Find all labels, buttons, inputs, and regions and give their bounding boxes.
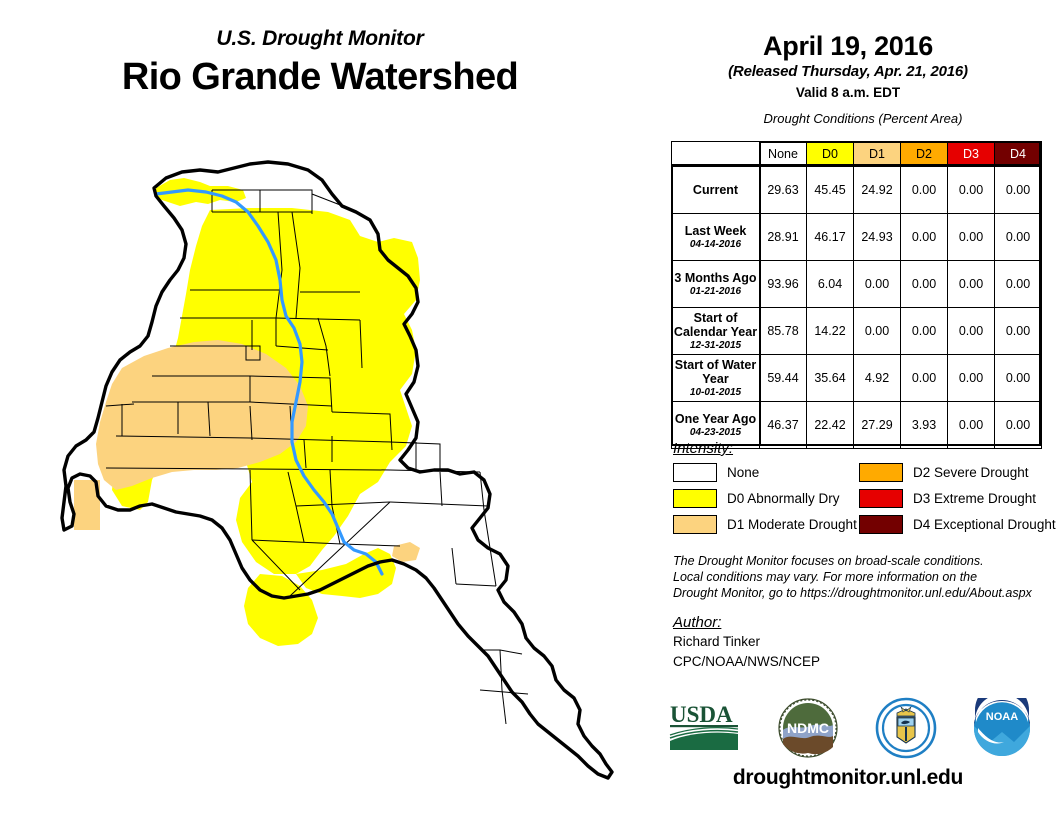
- legend-label-d1: D1 Moderate Drought: [727, 517, 857, 532]
- usdc-logo-icon[interactable]: [875, 697, 937, 759]
- row-label-current: Current: [672, 167, 760, 214]
- cell-d3: 0.00: [948, 214, 995, 261]
- legend-item-d0[interactable]: D0 Abnormally Dry: [673, 489, 859, 508]
- swatch-d1-icon: [673, 515, 717, 534]
- table-row: Start of Water Year 10-01-2015 59.44 35.…: [672, 355, 1042, 402]
- cell-none: 28.91: [760, 214, 807, 261]
- cell-d1: 4.92: [854, 355, 901, 402]
- report-date: April 19, 2016: [640, 30, 1056, 62]
- usda-logo-icon[interactable]: USDA: [668, 700, 742, 756]
- cell-d2: 0.00: [901, 167, 948, 214]
- swatch-d4-icon: [859, 515, 903, 534]
- cell-d4: 0.00: [995, 214, 1042, 261]
- cell-d1: 0.00: [854, 308, 901, 355]
- disclaimer-text: The Drought Monitor focuses on broad-sca…: [673, 553, 1053, 601]
- header-blank-cell: [672, 142, 760, 167]
- logo-row: USDA NDMC: [650, 692, 1050, 764]
- cell-d1: 24.92: [854, 167, 901, 214]
- cell-d3: 0.00: [948, 308, 995, 355]
- cell-d0: 35.64: [807, 355, 854, 402]
- page-title: Rio Grande Watershed: [0, 54, 640, 100]
- disclaimer-line-2: Local conditions may vary. For more info…: [673, 569, 1053, 585]
- row-label-start-of-calendar-year: Start of Calendar Year 12-31-2015: [672, 308, 760, 355]
- row-label-3-months-ago: 3 Months Ago 01-21-2016: [672, 261, 760, 308]
- legend-item-none[interactable]: None: [673, 463, 859, 482]
- row-label-date: 01-21-2016: [672, 286, 759, 298]
- program-title: U.S. Drought Monitor: [0, 26, 640, 52]
- cell-d4: 0.00: [995, 308, 1042, 355]
- legend-label-d4: D4 Exceptional Drought: [913, 517, 1056, 532]
- column-header-d0: D0: [807, 142, 854, 167]
- row-label-last-week: Last Week 04-14-2016: [672, 214, 760, 261]
- table-caption: Drought Conditions (Percent Area): [670, 111, 1056, 126]
- table-row: Last Week 04-14-2016 28.91 46.17 24.93 0…: [672, 214, 1042, 261]
- cell-d0: 45.45: [807, 167, 854, 214]
- cell-d4: 0.00: [995, 261, 1042, 308]
- author-block: Author: Richard Tinker CPC/NOAA/NWS/NCEP: [673, 614, 1053, 671]
- valid-time: Valid 8 a.m. EDT: [640, 83, 1056, 102]
- row-label-text: Last Week: [685, 224, 747, 238]
- row-label-text: Current: [693, 183, 738, 197]
- row-label-start-of-water-year: Start of Water Year 10-01-2015: [672, 355, 760, 402]
- swatch-d3-icon: [859, 489, 903, 508]
- table-row: 3 Months Ago 01-21-2016 93.96 6.04 0.00 …: [672, 261, 1042, 308]
- info-panel: April 19, 2016 (Released Thursday, Apr. …: [640, 0, 1056, 816]
- column-header-d3: D3: [948, 142, 995, 167]
- row-label-text: 3 Months Ago: [674, 271, 756, 285]
- d1-region-southeast-sliver: [392, 542, 420, 562]
- cell-d2: 0.00: [901, 214, 948, 261]
- disclaimer-line-1: The Drought Monitor focuses on broad-sca…: [673, 553, 1053, 569]
- legend-label-d3: D3 Extreme Drought: [913, 491, 1036, 506]
- date-block: April 19, 2016 (Released Thursday, Apr. …: [640, 0, 1056, 102]
- drought-conditions-table: None D0 D1 D2 D3 D4 Current 29.63 45.45 …: [671, 141, 1041, 449]
- row-label-text: Start of Water Year: [675, 358, 757, 386]
- column-header-d2: D2: [901, 142, 948, 167]
- legend-label-none: None: [727, 465, 759, 480]
- column-header-d1: D1: [854, 142, 901, 167]
- table-row: Start of Calendar Year 12-31-2015 85.78 …: [672, 308, 1042, 355]
- cell-d1: 0.00: [854, 261, 901, 308]
- row-label-date: 04-23-2015: [672, 427, 759, 439]
- svg-text:NDMC: NDMC: [787, 720, 829, 736]
- map-panel: U.S. Drought Monitor Rio Grande Watershe…: [0, 0, 640, 816]
- swatch-d2-icon: [859, 463, 903, 482]
- drought-map[interactable]: [60, 150, 620, 810]
- ndmc-logo-icon[interactable]: NDMC: [777, 697, 839, 759]
- svg-text:USDA: USDA: [670, 702, 733, 727]
- site-url[interactable]: droughtmonitor.unl.edu: [640, 766, 1056, 790]
- row-label-date: 04-14-2016: [672, 239, 759, 251]
- row-label-text: One Year Ago: [675, 412, 756, 426]
- column-header-d4: D4: [995, 142, 1042, 167]
- author-affiliation: CPC/NOAA/NWS/NCEP: [673, 653, 1053, 671]
- legend-item-d1[interactable]: D1 Moderate Drought: [673, 515, 859, 534]
- table-row: Current 29.63 45.45 24.92 0.00 0.00 0.00: [672, 167, 1042, 214]
- cell-d2: 0.00: [901, 308, 948, 355]
- release-date: (Released Thursday, Apr. 21, 2016): [640, 62, 1056, 82]
- column-header-none: None: [760, 142, 807, 167]
- legend-item-d2[interactable]: D2 Severe Drought: [859, 463, 1045, 482]
- row-label-text: Start of Calendar Year: [674, 311, 757, 339]
- cell-none: 85.78: [760, 308, 807, 355]
- cell-d0: 6.04: [807, 261, 854, 308]
- cell-d4: 0.00: [995, 355, 1042, 402]
- legend-title: Intensity:: [673, 440, 1053, 457]
- svg-text:NOAA: NOAA: [986, 711, 1018, 723]
- cell-d3: 0.00: [948, 167, 995, 214]
- cell-d2: 0.00: [901, 355, 948, 402]
- swatch-none-icon: [673, 463, 717, 482]
- swatch-d0-icon: [673, 489, 717, 508]
- row-label-date: 12-31-2015: [672, 340, 759, 352]
- author-title: Author:: [673, 614, 1053, 631]
- cell-d0: 46.17: [807, 214, 854, 261]
- cell-none: 59.44: [760, 355, 807, 402]
- noaa-logo-icon[interactable]: NOAA: [972, 698, 1032, 758]
- title-block: U.S. Drought Monitor Rio Grande Watershe…: [0, 26, 640, 100]
- cell-d0: 14.22: [807, 308, 854, 355]
- legend-item-d4[interactable]: D4 Exceptional Drought: [859, 515, 1045, 534]
- cell-d2: 0.00: [901, 261, 948, 308]
- legend-item-d3[interactable]: D3 Extreme Drought: [859, 489, 1045, 508]
- cell-d1: 24.93: [854, 214, 901, 261]
- legend-label-d0: D0 Abnormally Dry: [727, 491, 840, 506]
- legend-label-d2: D2 Severe Drought: [913, 465, 1029, 480]
- intensity-legend: Intensity: None D2 Severe Drought D0 Abn…: [673, 440, 1053, 534]
- cell-d3: 0.00: [948, 355, 995, 402]
- disclaimer-line-3[interactable]: Drought Monitor, go to https://droughtmo…: [673, 585, 1053, 601]
- cell-none: 93.96: [760, 261, 807, 308]
- table-header-row: None D0 D1 D2 D3 D4: [672, 142, 1042, 167]
- cell-d3: 0.00: [948, 261, 995, 308]
- cell-none: 29.63: [760, 167, 807, 214]
- author-name: Richard Tinker: [673, 633, 1053, 651]
- row-label-date: 10-01-2015: [672, 387, 759, 399]
- cell-d4: 0.00: [995, 167, 1042, 214]
